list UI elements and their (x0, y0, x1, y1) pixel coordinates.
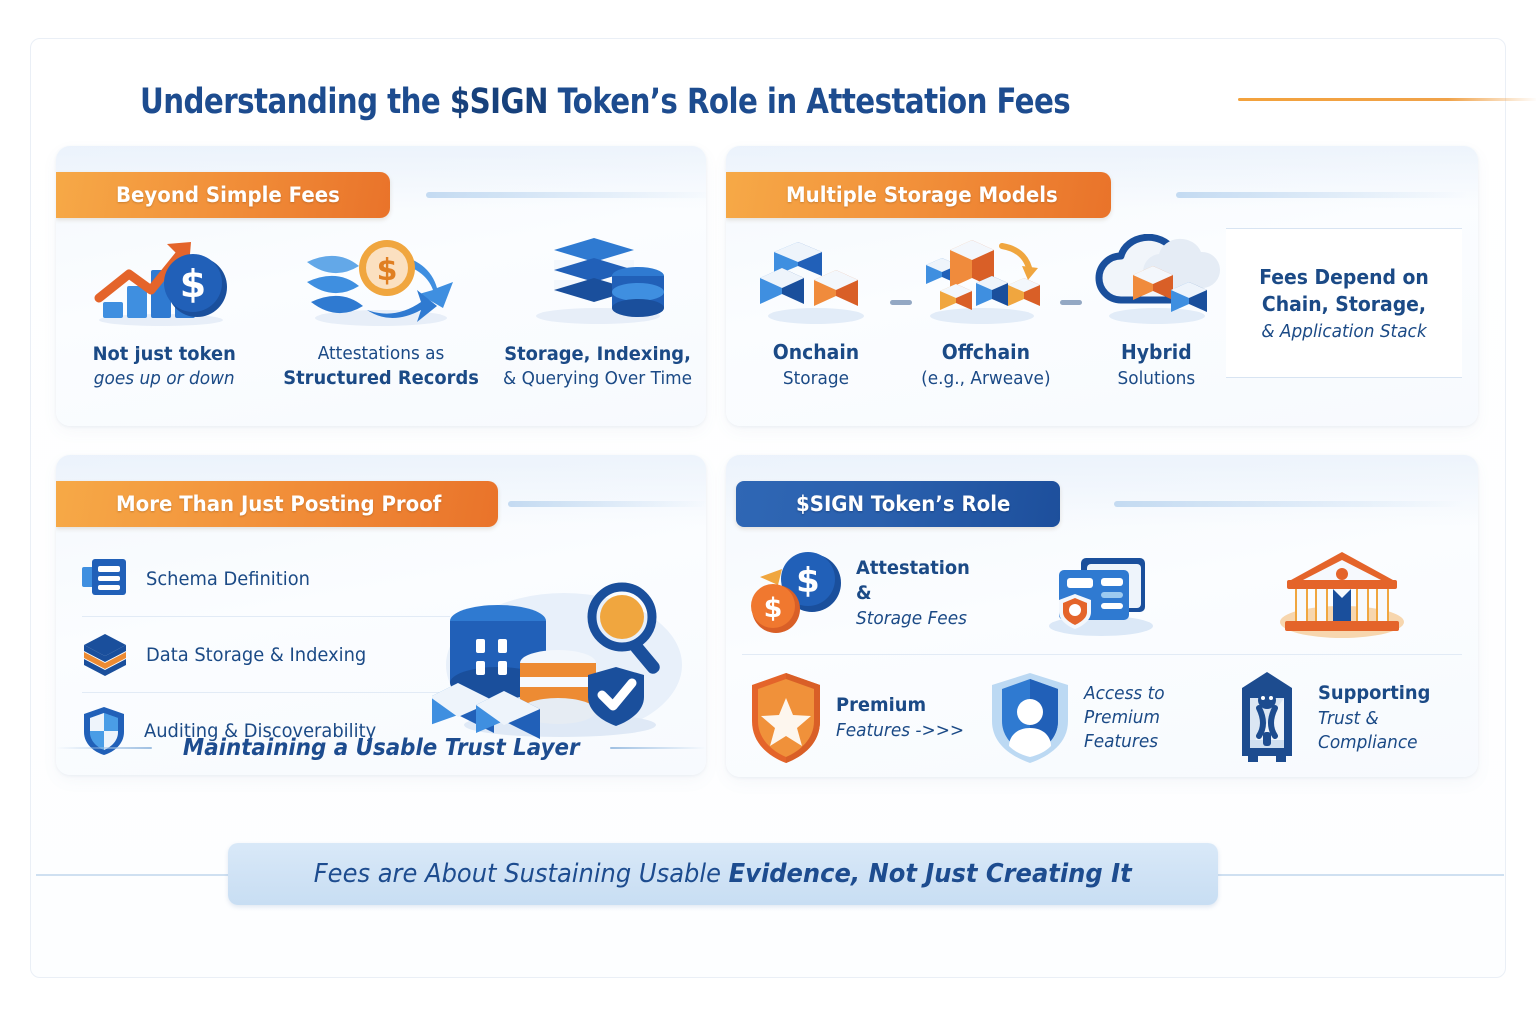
banner-text-bold: Evidence, Not Just Creating It (729, 859, 1132, 889)
storage-model-offchain: Offchain (e.g., Arweave) (916, 234, 1056, 389)
card-more-than-posting-proof: More Than Just Posting Proof Schema Defi… (56, 455, 706, 775)
cell-line-1: Access to (1084, 682, 1165, 706)
page-title: Understanding the $SIGN Token’s Role in … (140, 74, 1420, 130)
storage-model-caption: Offchain (e.g., Arweave) (917, 340, 1055, 389)
card-header-beyond-simple-fees: Beyond Simple Fees (56, 172, 390, 218)
title-part-2: Token’s Role in Attestation Fees (548, 82, 1070, 122)
title-accent-rule (1238, 98, 1536, 101)
svg-text:$: $ (180, 262, 206, 306)
column-caption: Not just token goes up or down (88, 342, 240, 391)
feature-label: Data Storage & Indexing (146, 644, 366, 666)
caption-line-1: Attestations as (283, 342, 479, 366)
attestation-coin-records-icon: $ (301, 232, 461, 328)
schema-definition-icon (82, 557, 128, 601)
caption-line-2: Structured Records (283, 366, 479, 391)
footer-label: Maintaining a Usable Trust Layer (183, 735, 580, 761)
money-bag-coins-icon: $ $ (748, 551, 844, 637)
storage-model-caption: Onchain Storage (770, 340, 862, 389)
cell-text: Access to Premium Features (1084, 682, 1170, 755)
banner-rule-left (36, 874, 232, 876)
data-layers-icon (82, 632, 128, 678)
storage-models-row: Onchain Storage (746, 234, 1226, 389)
storage-model-label: Hybrid (1117, 340, 1195, 364)
cell-line-2: Storage Fees (856, 607, 970, 631)
card-header-more-than-posting-proof: More Than Just Posting Proof (56, 481, 498, 527)
feature-row-schema: Schema Definition (82, 541, 450, 617)
cell-line-2: Trust & (1318, 707, 1430, 731)
summary-banner: Fees are About Sustaining Usable Evidenc… (228, 843, 1218, 905)
storage-model-sub: (e.g., Arweave) (921, 368, 1050, 389)
cell-line-1: Supporting (1318, 681, 1430, 707)
banner-rule-right (1214, 874, 1504, 876)
storage-model-sub: Solutions (1117, 368, 1195, 389)
fees-panel-line-3: & Application Stack (1241, 321, 1448, 342)
footer-rule-right (610, 747, 706, 749)
caption-line-1: Storage, Indexing, (503, 342, 692, 367)
storage-model-label: Offchain (921, 340, 1050, 364)
card-multiple-storage-models: Multiple Storage Models (726, 146, 1478, 426)
token-role-row-2: Premium Features ->>> (742, 655, 1462, 777)
cell-line-2: Premium (1084, 706, 1165, 730)
title-token-symbol: $SIGN (450, 82, 548, 122)
ribbon-trail (1114, 501, 1466, 507)
cell-access-premium-features: Access to Premium Features (982, 655, 1222, 777)
database-magnifier-check-icon (432, 565, 692, 745)
storage-model-caption: Hybrid Solutions (1115, 340, 1198, 389)
compliance-kiosk-icon (1228, 670, 1306, 766)
storage-database-stack-icon (518, 232, 678, 328)
title-part-1: Understanding the (140, 82, 450, 122)
column-caption: Attestations as Structured Records (277, 342, 485, 391)
card-header-multiple-storage-models: Multiple Storage Models (726, 172, 1111, 218)
premium-star-shield-icon (748, 671, 824, 765)
svg-text:$: $ (377, 253, 398, 288)
growth-chart-coin-icon: $ (89, 232, 239, 328)
offchain-blocks-arrow-icon (920, 234, 1052, 326)
feature-row-data-storage: Data Storage & Indexing (82, 617, 450, 693)
cell-line-1: Premium (836, 693, 964, 719)
cell-line-3: Compliance (1318, 731, 1430, 755)
card-header-label: More Than Just Posting Proof (116, 492, 441, 516)
storage-model-hybrid: Hybrid Solutions (1086, 234, 1226, 389)
institution-bank-icon (1277, 548, 1407, 640)
token-role-row-1: $ $ Attestation & Storage Fees (742, 533, 1462, 655)
cell-attestation-storage-fees: $ $ Attestation & Storage Fees (742, 533, 983, 654)
beyond-fees-columns: $ Not just token goes up or down (56, 232, 706, 391)
connector-dash (1060, 300, 1082, 305)
infographic-canvas: Understanding the $SIGN Token’s Role in … (0, 0, 1536, 1024)
trust-layer-footer: Maintaining a Usable Trust Layer (56, 735, 706, 761)
cell-credential-cards (983, 533, 1222, 654)
card-header-label: Beyond Simple Fees (116, 183, 340, 207)
onchain-blocks-icon (752, 234, 880, 326)
cell-supporting-trust-compliance: Supporting Trust & Compliance (1222, 655, 1462, 777)
column-attestations-records: $ Attestations as Structured Records (273, 232, 490, 391)
column-caption: Storage, Indexing, & Querying Over Time (497, 342, 698, 391)
card-sign-token-role: $SIGN Token’s Role $ $ (726, 455, 1478, 777)
cell-premium-features: Premium Features ->>> (742, 655, 982, 777)
cell-institution (1223, 533, 1462, 654)
card-header-label: $SIGN Token’s Role (796, 492, 1010, 516)
cell-text: Premium Features ->>> (836, 693, 972, 743)
storage-model-onchain: Onchain Storage (746, 234, 886, 389)
fees-depend-panel: Fees Depend on Chain, Storage, & Applica… (1226, 228, 1462, 378)
column-storage-indexing: Storage, Indexing, & Querying Over Time (489, 232, 706, 391)
fees-panel-line-1: Fees Depend on (1241, 264, 1448, 290)
feature-label: Schema Definition (146, 568, 310, 590)
ribbon-trail (508, 501, 706, 507)
ribbon-trail (1176, 192, 1468, 198)
user-shield-icon (988, 671, 1072, 765)
cell-line-2: Features ->>> (836, 719, 964, 743)
cell-text: Supporting Trust & Compliance (1318, 681, 1438, 755)
cell-line-3: Features (1084, 730, 1165, 754)
credential-cards-icon (1043, 550, 1163, 638)
footer-rule-left (56, 747, 152, 749)
svg-text:$: $ (764, 593, 783, 624)
caption-line-2: & Querying Over Time (503, 367, 692, 391)
storage-model-sub: Storage (773, 368, 859, 389)
caption-line-1: Not just token (93, 342, 236, 367)
card-header-label: Multiple Storage Models (786, 183, 1058, 207)
card-beyond-simple-fees: Beyond Simple Fees $ (56, 146, 706, 426)
connector-dash (890, 300, 912, 305)
cell-line-1: Attestation & (856, 556, 970, 607)
token-role-grid: $ $ Attestation & Storage Fees (742, 533, 1462, 777)
svg-text:$: $ (796, 561, 820, 601)
banner-text-plain: Fees are About Sustaining Usable (314, 859, 729, 889)
cell-text: Attestation & Storage Fees (856, 556, 977, 632)
fees-panel-line-2: Chain, Storage, (1241, 291, 1448, 317)
ribbon-trail (426, 192, 706, 198)
column-not-just-token: $ Not just token goes up or down (56, 232, 273, 391)
card-header-sign-token-role: $SIGN Token’s Role (736, 481, 1060, 527)
hybrid-cloud-blocks-icon (1091, 234, 1221, 326)
storage-model-label: Onchain (773, 340, 859, 364)
caption-line-2: goes up or down (93, 367, 236, 391)
